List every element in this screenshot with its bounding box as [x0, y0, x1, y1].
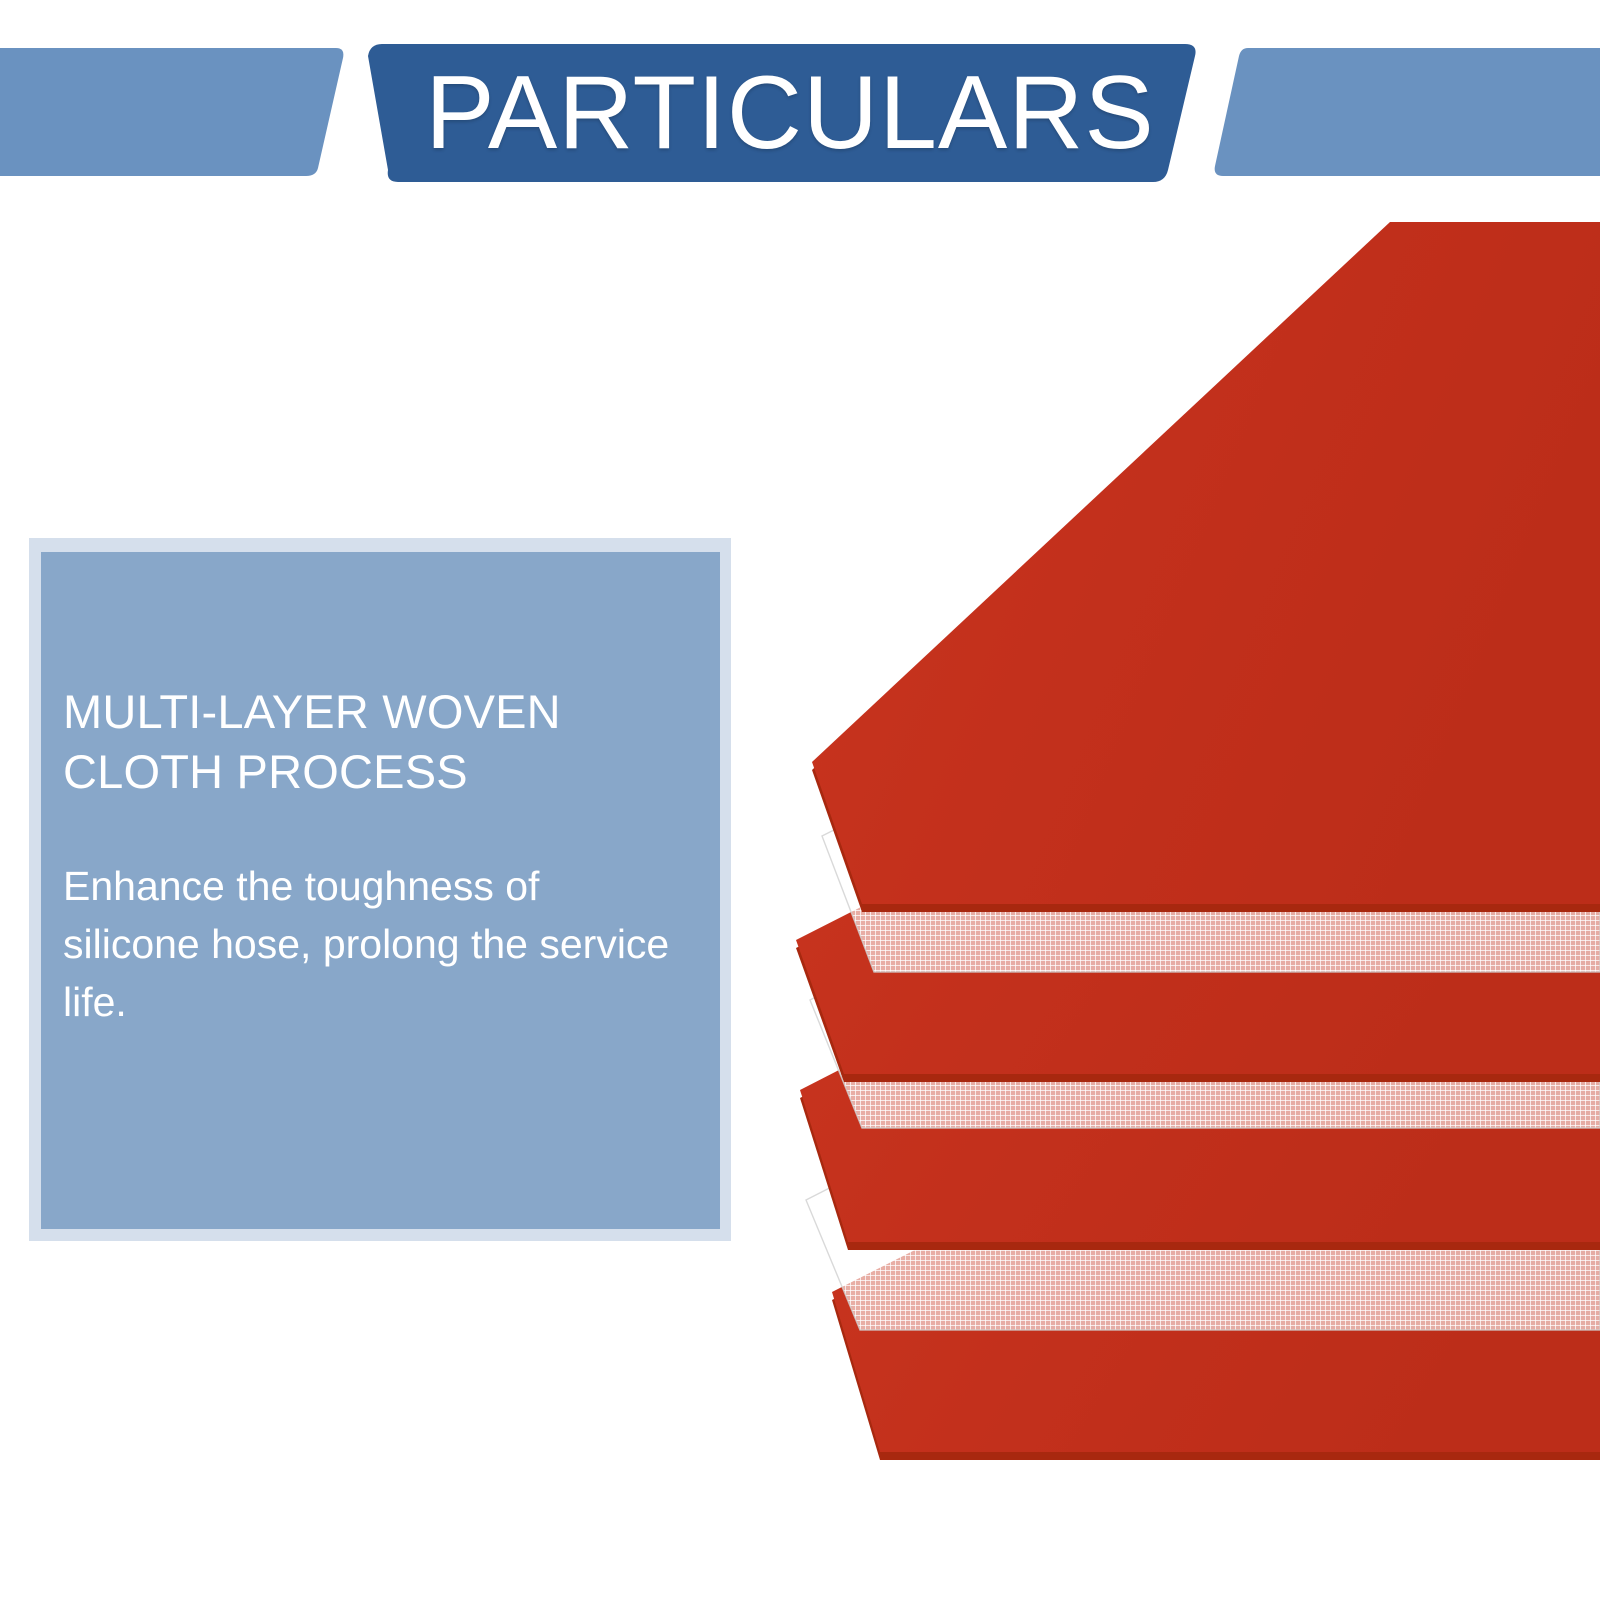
info-card-heading: MULTI-LAYER WOVEN CLOTH PROCESS — [63, 682, 703, 802]
layer-silicone-2 — [796, 644, 1600, 1082]
layer-silicone-4 — [832, 1004, 1600, 1460]
infographic-page: PARTICULARS — [0, 0, 1600, 1600]
header-left-accent-bar — [0, 48, 343, 176]
layer-silicone-1 — [812, 222, 1600, 912]
layer-woven-mesh-2 — [810, 712, 1600, 1128]
header-right-accent-bar — [1215, 48, 1600, 176]
layer-woven-mesh-3 — [806, 910, 1600, 1330]
header-banner: PARTICULARS — [0, 0, 1600, 200]
info-card-body-text: Enhance the toughness of silicone hose, … — [63, 857, 683, 1032]
layer-woven-mesh-1 — [822, 552, 1600, 972]
page-title: PARTICULARS — [380, 44, 1200, 182]
layer-silicone-3 — [800, 792, 1600, 1250]
info-card-content: MULTI-LAYER WOVEN CLOTH PROCESS Enhance … — [41, 552, 720, 1229]
